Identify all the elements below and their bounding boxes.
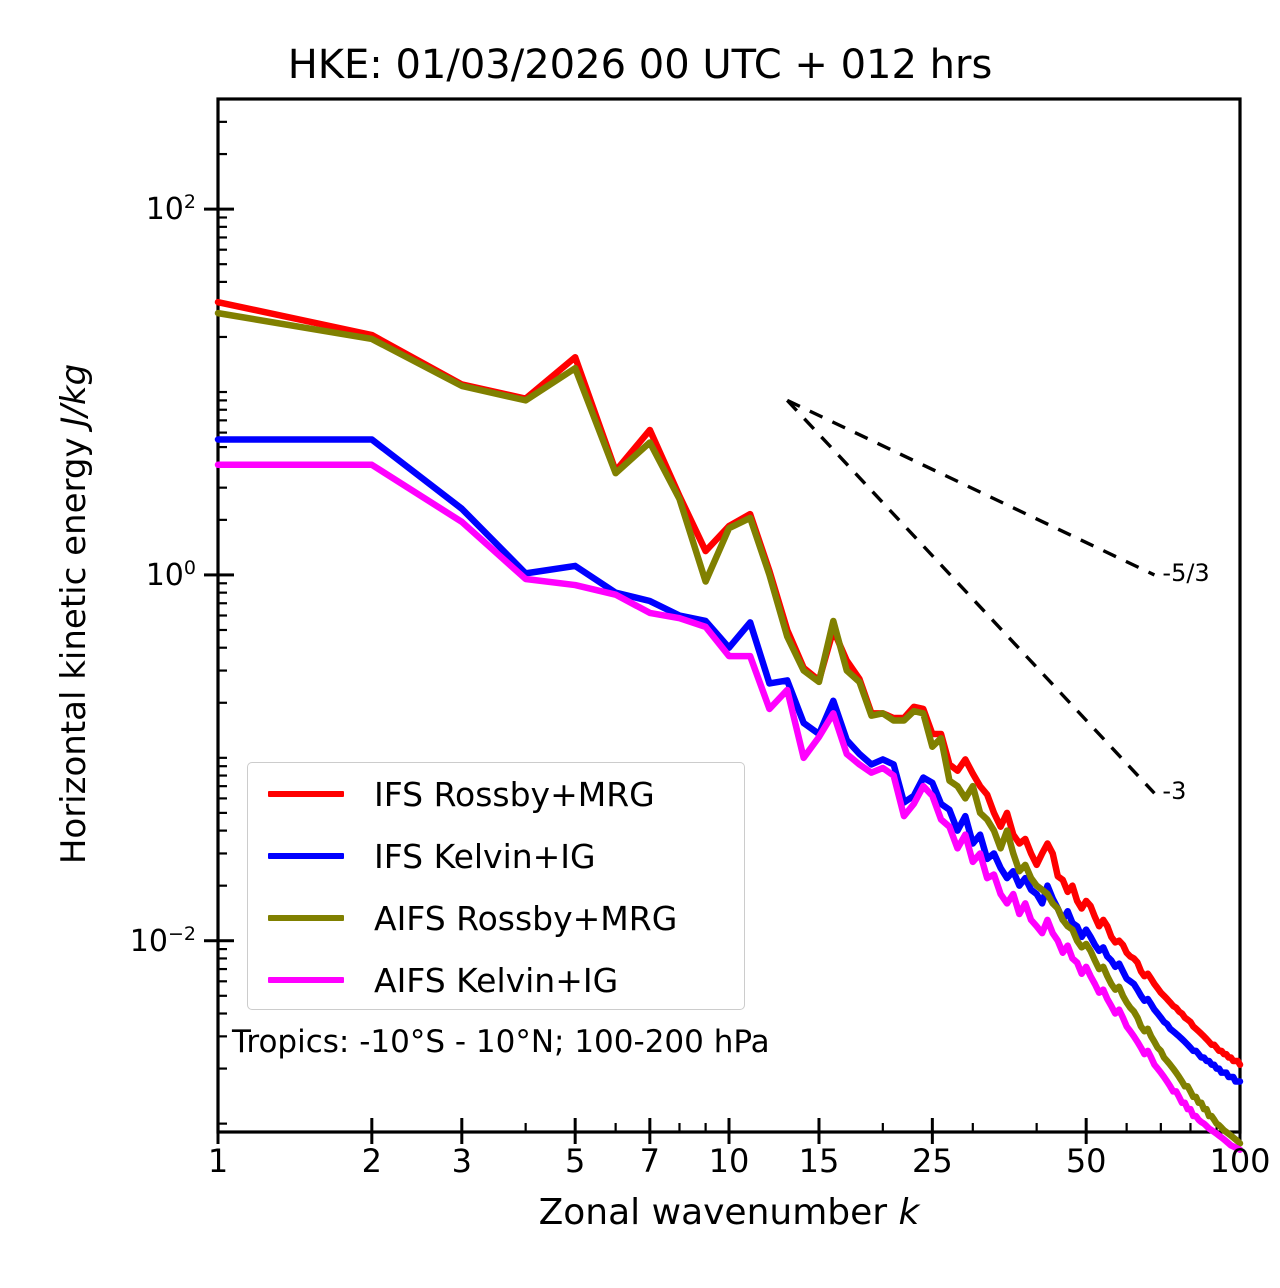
legend-swatch-1 [268,853,344,859]
figure-canvas: HKE: 01/03/2026 00 UTC + 012 hrs Horizon… [0,0,1280,1288]
legend-swatch-0 [268,791,344,797]
reference-slope-line-0 [787,400,1154,575]
x-tick-label-8: 50 [1066,1142,1107,1180]
x-tick-label-0: 1 [208,1142,228,1180]
region-annotation: Tropics: -10°S - 10°N; 100-200 hPa [232,1024,770,1060]
y-tick-label-2: 10−2 [130,923,196,959]
legend-label-2: AIFS Rossby+MRG [374,899,677,938]
legend: IFS Rossby+MRGIFS Kelvin+IGAIFS Rossby+M… [247,762,745,1010]
slope-label-five-thirds: -5/3 [1162,559,1209,587]
x-tick-label-2: 3 [452,1142,472,1180]
legend-label-1: IFS Kelvin+IG [374,837,596,876]
legend-entry-1[interactable]: IFS Kelvin+IG [248,825,744,887]
x-tick-label-7: 25 [912,1142,953,1180]
legend-entry-3[interactable]: AIFS Kelvin+IG [248,949,744,1011]
legend-entry-0[interactable]: IFS Rossby+MRG [248,763,744,825]
x-tick-label-4: 7 [640,1142,660,1180]
x-tick-label-3: 5 [565,1142,585,1180]
slope-label-minus-three: -3 [1162,777,1186,805]
x-tick-label-1: 2 [362,1142,382,1180]
x-tick-label-6: 15 [799,1142,840,1180]
legend-label-0: IFS Rossby+MRG [374,775,655,814]
legend-swatch-2 [268,915,344,921]
legend-label-3: AIFS Kelvin+IG [374,961,618,1000]
legend-entry-2[interactable]: AIFS Rossby+MRG [248,887,744,949]
y-tick-label-1: 100 [146,557,196,593]
x-axis-ticks [218,1118,1240,1144]
y-tick-label-0: 102 [146,191,196,227]
x-tick-label-5: 10 [709,1142,750,1180]
legend-swatch-3 [268,977,344,983]
x-tick-label-9: 100 [1209,1142,1270,1180]
